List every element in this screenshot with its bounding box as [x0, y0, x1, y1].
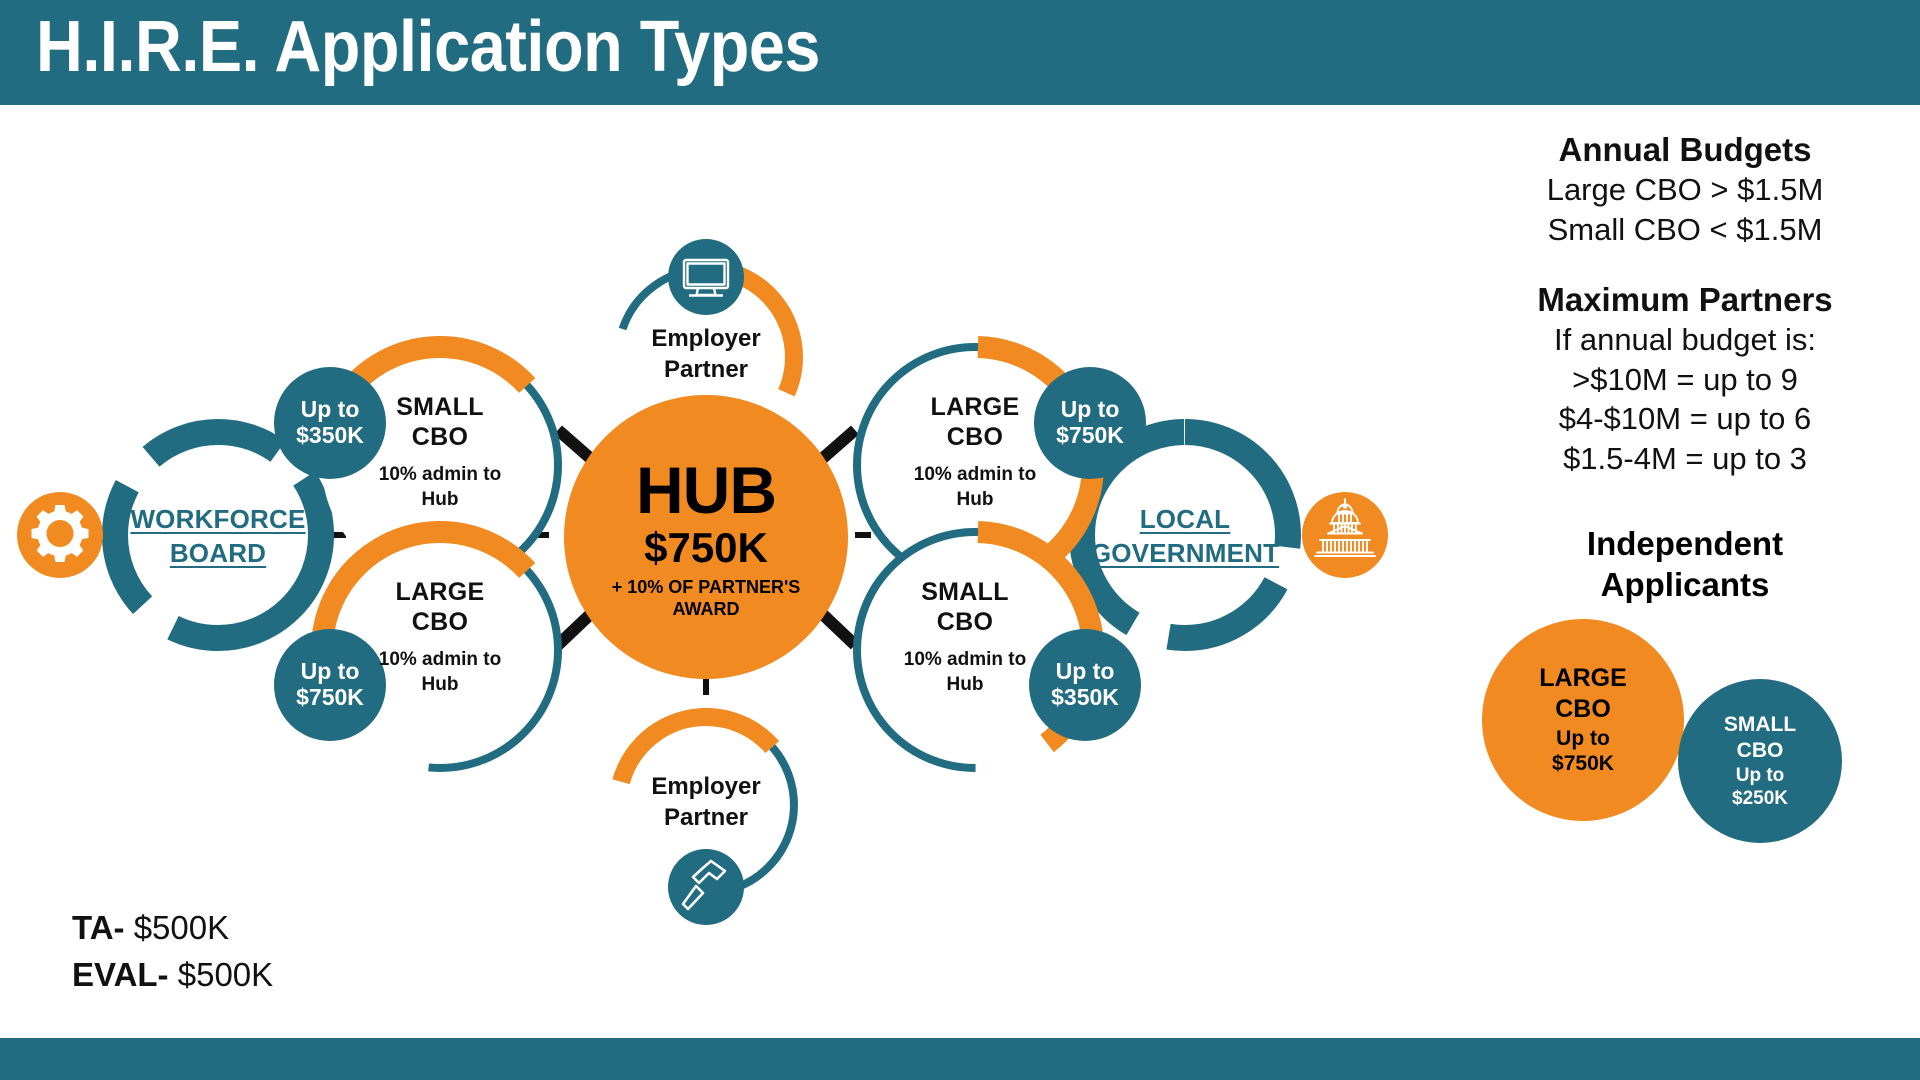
maximum-partners-line-2: $4-$10M = up to 6 — [1450, 399, 1920, 439]
independent-small-line2: CBO — [1737, 737, 1784, 764]
ta-footnote: TA- $500K — [72, 905, 273, 952]
annual-budgets-heading: Annual Budgets — [1450, 130, 1920, 170]
independent-large-line1: LARGE — [1539, 663, 1627, 693]
independent-large-line4: $750K — [1552, 751, 1614, 777]
large-cbo-top-badge — [1034, 367, 1146, 479]
hub-and-spoke-diagram: HUB $750K + 10% OF PARTNER'S AWARD SMALL… — [0, 105, 1450, 1035]
eval-footnote: EVAL- $500K — [72, 952, 273, 999]
independent-applicant-circles: LARGE CBO Up to $750K SMALL CBO Up to $2… — [1450, 619, 1920, 839]
ta-label: TA- — [72, 909, 125, 946]
hammer-icon — [668, 849, 744, 925]
maximum-partners-line-3: $1.5-4M = up to 3 — [1450, 439, 1920, 479]
eval-value: $500K — [178, 956, 273, 993]
independent-applicants-heading: Independent Applicants — [1450, 523, 1920, 606]
small-cbo-top-badge — [274, 367, 386, 479]
workforce-board-ring — [115, 432, 321, 638]
panel-spacer — [1450, 250, 1920, 280]
eval-label: EVAL- — [72, 956, 169, 993]
independent-large-cbo-circle: LARGE CBO Up to $750K — [1482, 619, 1684, 821]
page-title: H.I.R.E. Application Types — [36, 6, 820, 88]
independent-large-line3: Up to — [1556, 726, 1610, 752]
rules-panel: Annual Budgets Large CBO > $1.5M Small C… — [1450, 130, 1920, 839]
independent-small-line4: $250K — [1732, 787, 1788, 810]
ta-value: $500K — [134, 909, 229, 946]
annual-budgets-line-2: Small CBO < $1.5M — [1450, 210, 1920, 250]
small-cbo-bottom-badge — [1029, 629, 1141, 741]
maximum-partners-line-1: >$10M = up to 9 — [1450, 360, 1920, 400]
computer-monitor-icon — [668, 239, 744, 315]
maximum-partners-intro: If annual budget is: — [1450, 320, 1920, 360]
independent-small-cbo-circle: SMALL CBO Up to $250K — [1678, 679, 1842, 843]
independent-heading-line1: Independent — [1587, 525, 1783, 562]
footer-bar — [0, 1038, 1920, 1080]
large-cbo-bottom-badge — [274, 629, 386, 741]
annual-budgets-line-1: Large CBO > $1.5M — [1450, 170, 1920, 210]
independent-large-line2: CBO — [1555, 693, 1611, 726]
funding-footnotes: TA- $500K EVAL- $500K — [72, 905, 273, 999]
maximum-partners-heading: Maximum Partners — [1450, 280, 1920, 320]
independent-heading-line2: Applicants — [1601, 566, 1770, 603]
hub-circle — [564, 395, 848, 679]
independent-small-line3: Up to — [1736, 764, 1785, 787]
independent-small-line1: SMALL — [1724, 712, 1796, 737]
gear-icon — [17, 492, 103, 578]
capitol-building-icon — [1302, 492, 1388, 578]
